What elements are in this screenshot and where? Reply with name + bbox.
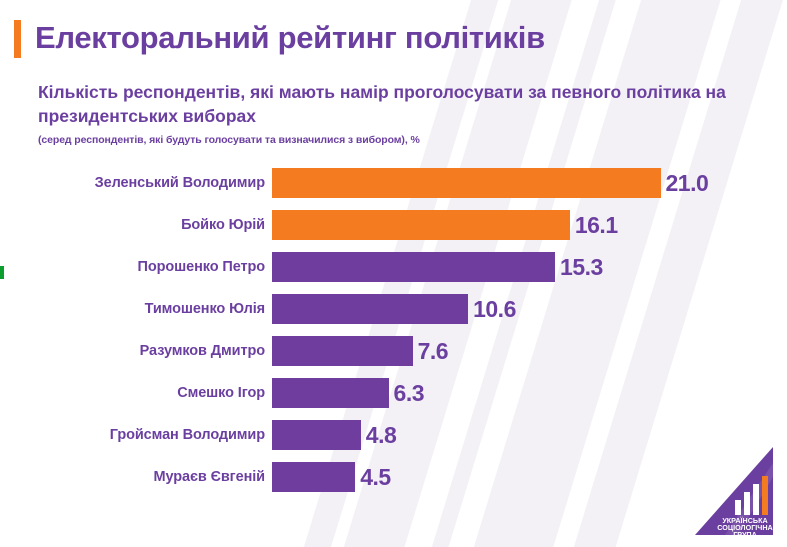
bar-row: Зеленський Володимир21.0 [0,162,787,204]
logo-line-3: ГРУПА [733,530,757,539]
bar-value-label: 4.8 [361,422,396,449]
bar-track: 6.3 [272,372,787,414]
bar [272,420,361,450]
bar-value-label: 7.6 [413,338,448,365]
edge-marker [0,266,4,279]
bar-row: Гройсман Володимир4.8 [0,414,787,456]
bar [272,294,468,324]
bar-track: 16.1 [272,204,787,246]
bar-track: 15.3 [272,246,787,288]
bar-row: Мураєв Євгеній4.5 [0,456,787,498]
fineprint-note: (серед респондентів, які будуть голосува… [38,134,787,146]
bar [272,462,355,492]
bar-category-label: Тимошенко Юлія [0,301,272,317]
title-accent-bar-icon [14,20,21,58]
bar [272,252,555,282]
bar-value-label: 4.5 [355,464,390,491]
bar-category-label: Разумков Дмитро [0,343,272,359]
bar-value-label: 6.3 [389,380,424,407]
bar-category-label: Зеленський Володимир [0,175,272,191]
bar-value-label: 21.0 [661,170,709,197]
bar-track: 7.6 [272,330,787,372]
bar-row: Порошенко Петро15.3 [0,246,787,288]
bar-track: 10.6 [272,288,787,330]
bar [272,168,661,198]
bar-chart: Зеленський Володимир21.0Бойко Юрій16.1По… [0,162,787,498]
bar-row: Смешко Ігор6.3 [0,372,787,414]
subtitle: Кількість респондентів, які мають намір … [38,80,738,128]
bar-row: Разумков Дмитро7.6 [0,330,787,372]
company-logo: УКРАЇНСЬКА СОЦІОЛОГІЧНА ГРУПА [691,445,777,541]
title-row: Електоральний рейтинг політиків [0,18,787,58]
bar [272,336,413,366]
bar-track: 21.0 [272,162,787,204]
bar [272,210,570,240]
bar-row: Тимошенко Юлія10.6 [0,288,787,330]
bar-category-label: Смешко Ігор [0,385,272,401]
header: Електоральний рейтинг політиків Кількіст… [0,0,787,146]
page-title: Електоральний рейтинг політиків [35,22,545,55]
bar-category-label: Гройсман Володимир [0,427,272,443]
bar-value-label: 16.1 [570,212,618,239]
bar-value-label: 15.3 [555,254,603,281]
bar-category-label: Порошенко Петро [0,259,272,275]
bar [272,378,389,408]
bar-row: Бойко Юрій16.1 [0,204,787,246]
bar-category-label: Мураєв Євгеній [0,469,272,485]
bar-category-label: Бойко Юрій [0,217,272,233]
infographic-page: Електоральний рейтинг політиків Кількіст… [0,0,787,547]
bar-value-label: 10.6 [468,296,516,323]
